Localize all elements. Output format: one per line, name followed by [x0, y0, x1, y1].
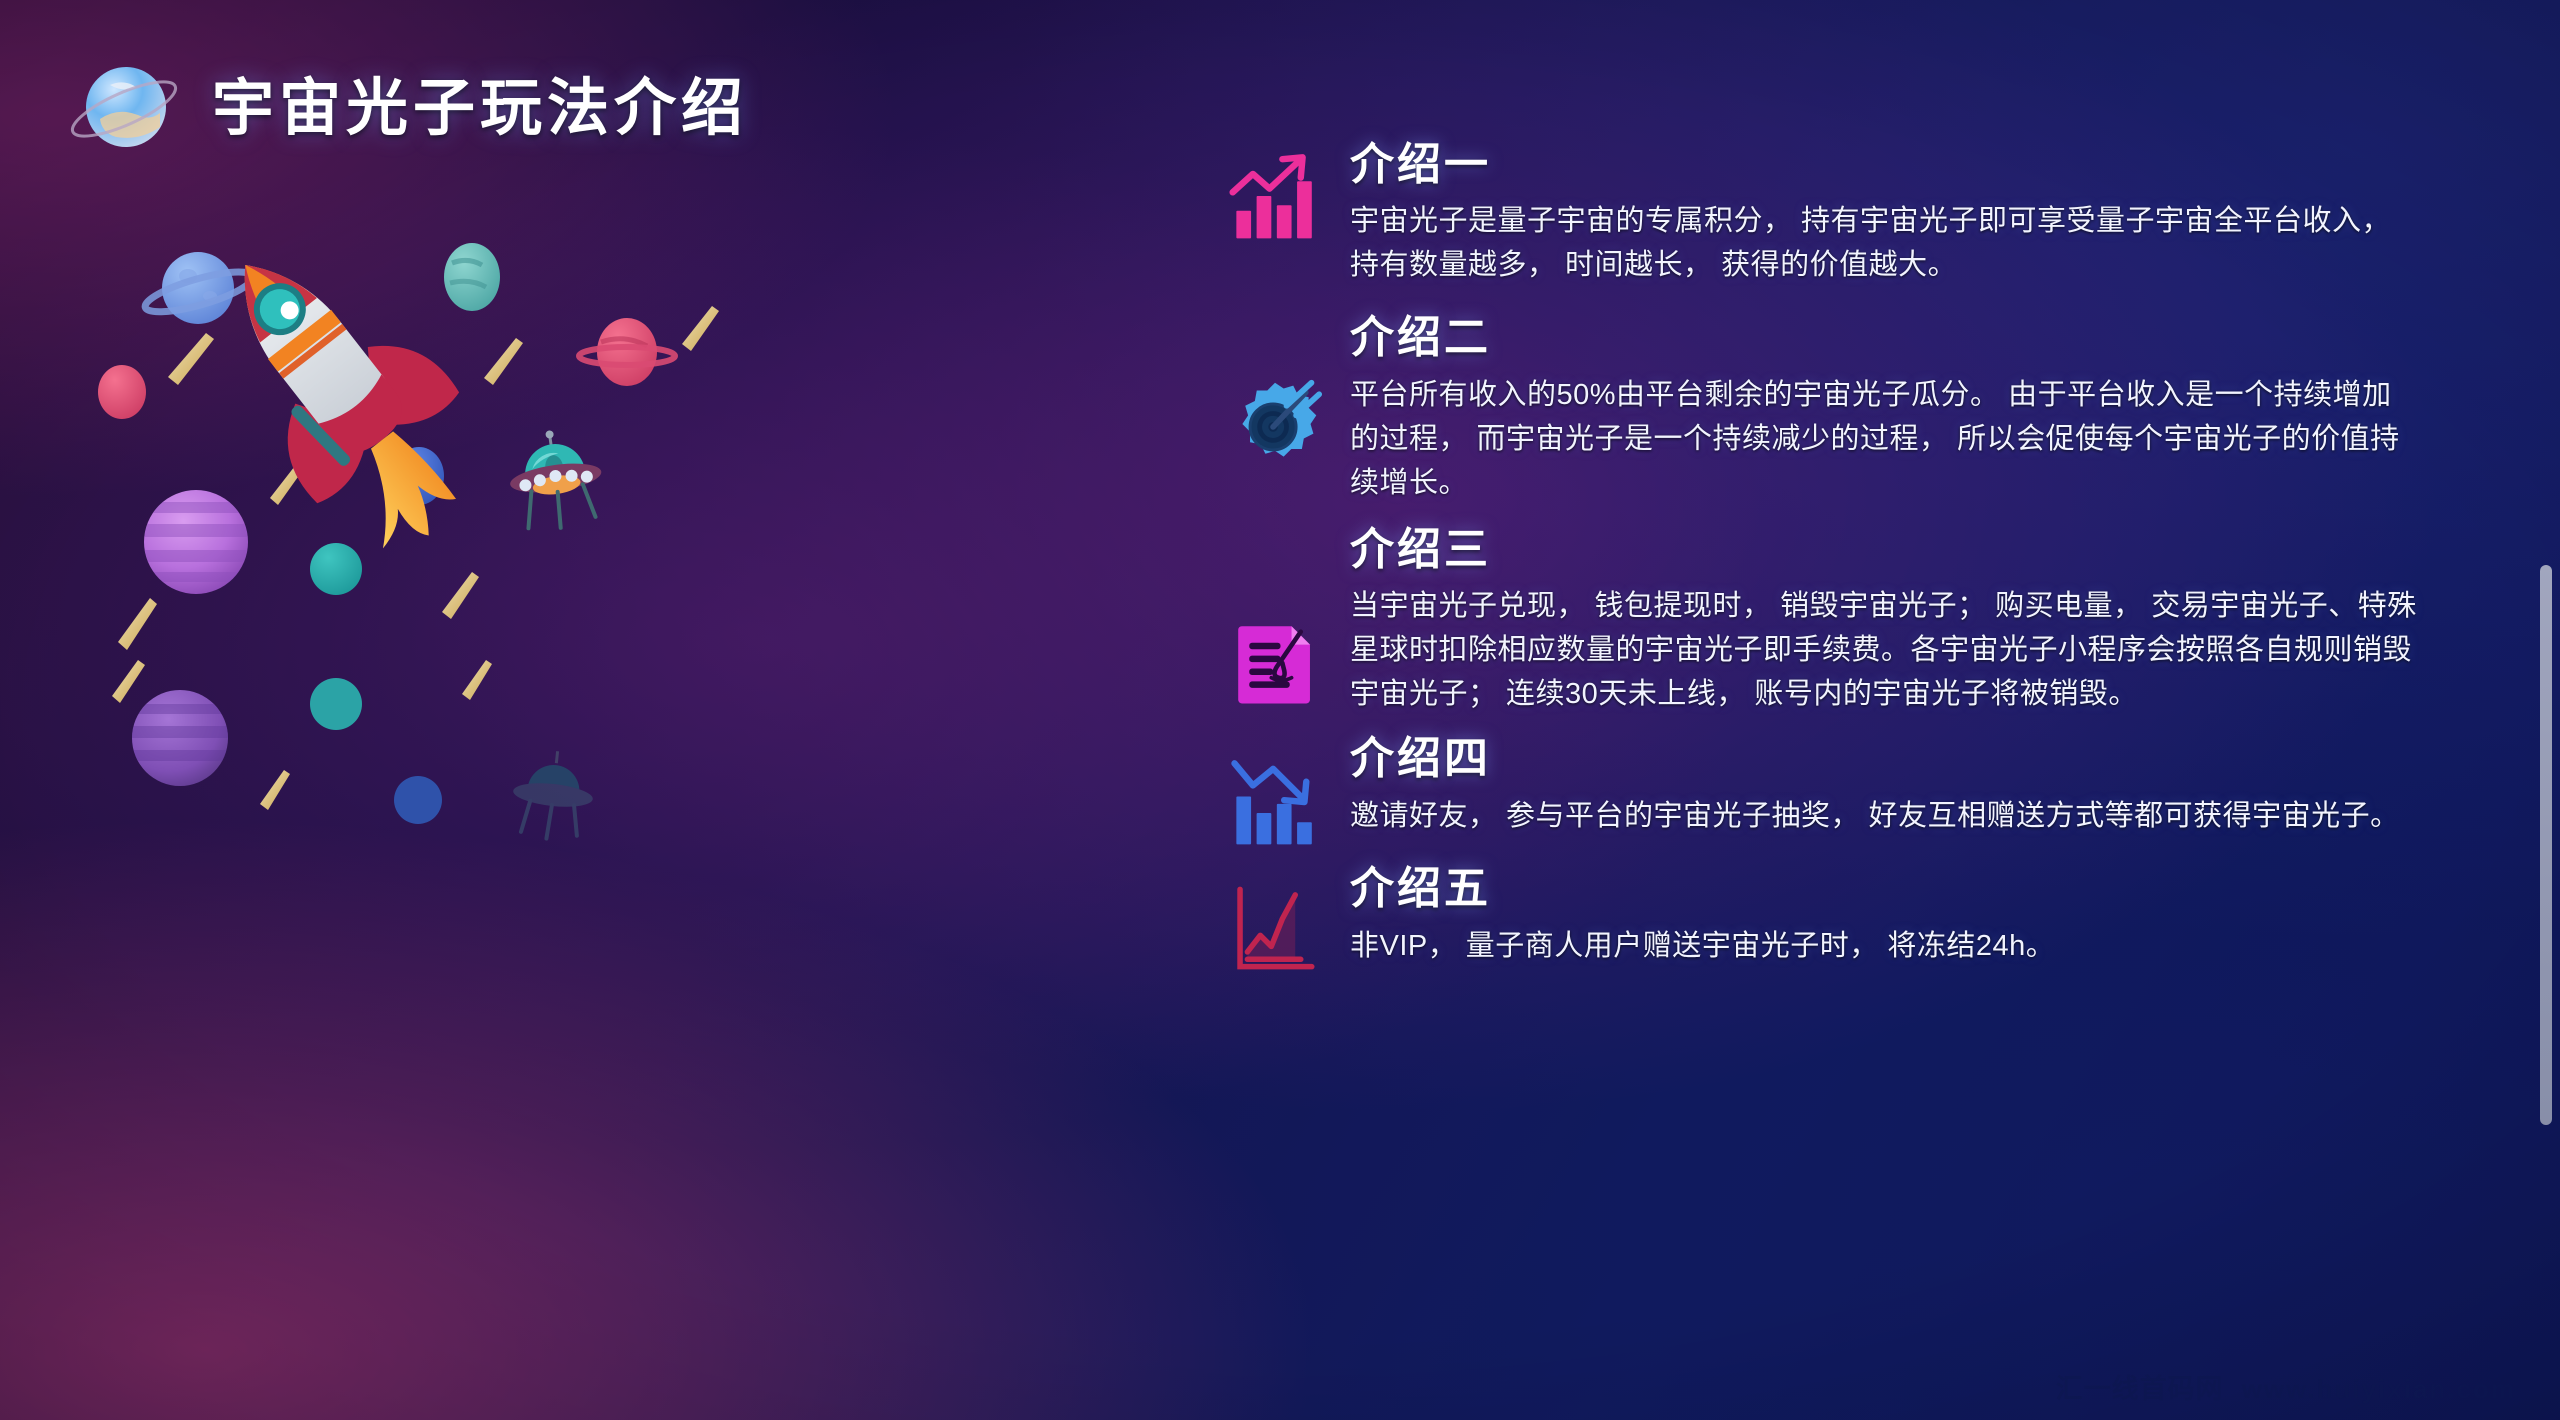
section-text: 非VIP， 量子商人用户赠送宇宙光子时， 将冻结24h。: [1350, 924, 2420, 968]
section-title: 介绍一: [1350, 140, 2420, 189]
section-text: 当宇宙光子兑现， 钱包提现时， 销毁宇宙光子； 购买电量， 交易宇宙光子、特殊星…: [1350, 584, 2420, 716]
striped-purple-planet-icon: [125, 690, 235, 786]
saturn-planet-icon: [142, 252, 257, 324]
intro-sections-list: 介绍一 宇宙光子是量子宇宙的专属积分， 持有宇宙光子即可享受量子宇宙全平台收入，…: [1200, 140, 2460, 974]
bar-chart-up-arrow-icon: [1200, 140, 1350, 242]
section-text: 宇宙光子是量子宇宙的专属积分， 持有宇宙光子即可享受量子宇宙全平台收入， 持有数…: [1350, 199, 2420, 287]
pink-planet-icon: [579, 318, 675, 386]
section-title: 介绍四: [1350, 734, 2420, 783]
contract-signature-document-icon: [1200, 525, 1350, 709]
intro-section-5[interactable]: 介绍五 非VIP， 量子商人用户赠送宇宙光子时， 将冻结24h。: [1200, 864, 2460, 974]
page-title: 宇宙光子玩法介绍: [212, 78, 748, 140]
intro-section-1[interactable]: 介绍一 宇宙光子是量子宇宙的专属积分， 持有宇宙光子即可享受量子宇宙全平台收入，…: [1200, 140, 2460, 287]
teal-planet-icon: [444, 243, 500, 311]
slide-header: 宇宙光子玩法介绍: [70, 55, 748, 163]
section-text: 邀请好友， 参与平台的宇宙光子抽奖， 好友互相赠送方式等都可获得宇宙光子。: [1350, 794, 2420, 838]
section-text: 平台所有收入的50%由平台剩余的宇宙光子瓜分。 由于平台收入是一个持续增加的过程…: [1350, 373, 2420, 505]
intro-section-2[interactable]: 介绍二 平台所有收入的50%由平台剩余的宇宙光子瓜分。 由于平台收入是一个持续增…: [1200, 313, 2460, 505]
section-title: 介绍三: [1350, 525, 2420, 574]
ufo-icon: [509, 747, 598, 843]
area-chart-line-icon: [1200, 864, 1350, 974]
gear-target-dart-icon: [1200, 313, 1350, 473]
presentation-slide: 宇宙光子玩法介绍 介绍一 宇宙光子是量子宇宙的专属积分，: [0, 0, 2560, 1420]
bar-chart-down-arrow-icon: [1200, 734, 1350, 848]
teal-planet-icon: [310, 543, 362, 595]
pink-planet-icon: [98, 365, 146, 419]
striped-purple-planet-icon: [136, 490, 256, 594]
section-title: 介绍二: [1350, 313, 2420, 362]
intro-section-3[interactable]: 介绍三 当宇宙光子兑现， 钱包提现时， 销毁宇宙光子； 购买电量， 交易宇宙光子…: [1200, 525, 2460, 717]
intro-section-4[interactable]: 介绍四 邀请好友， 参与平台的宇宙光子抽奖， 好友互相赠送方式等都可获得宇宙光子…: [1200, 734, 2460, 848]
watermark-url: www.huiyixian.com: [2242, 1374, 2516, 1405]
blue-planet-icon: [394, 776, 442, 824]
planet-globe-icon: [70, 55, 178, 163]
watermark: 汇一线首码网 www.huiyixian.com: [2056, 1367, 2516, 1406]
teal-planet-icon: [310, 678, 362, 730]
section-title: 介绍五: [1350, 864, 2420, 913]
vertical-scrollbar-track[interactable]: [2532, 0, 2554, 1420]
space-illustration: [0, 0, 1200, 1420]
ufo-icon: [503, 424, 608, 534]
watermark-site-name: 汇一线首码网: [2056, 1367, 2224, 1406]
